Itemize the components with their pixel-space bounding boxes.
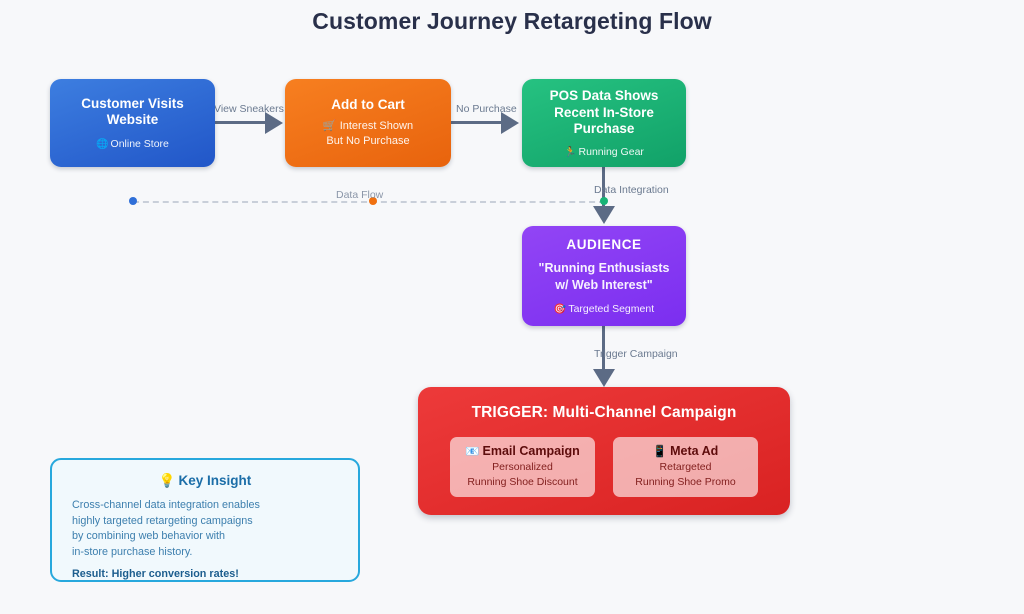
trigger-card-heading-label: Email Campaign [483, 444, 580, 458]
flow-dot-blue [129, 197, 137, 205]
runner-icon: 🏃 [564, 147, 576, 158]
flow-dot-green [600, 197, 608, 205]
node-title: Customer Visits Website [58, 96, 207, 128]
node-tag: 🏃Running Gear [564, 146, 644, 158]
globe-icon: 🌐 [96, 139, 108, 150]
trigger-card-heading: 📱Meta Ad [653, 444, 718, 458]
key-insight-heading: 💡Key Insight [72, 473, 338, 489]
node-line-2: But No Purchase [326, 134, 409, 149]
node-title-line-2: Recent In-Store [554, 105, 654, 122]
node-title-line-1: POS Data Shows [550, 88, 659, 105]
key-insight-line: by combining web behavior with [72, 529, 338, 545]
node-line-1: "Running Enthusiasts [539, 260, 670, 277]
trigger-card-line-1: Personalized [492, 460, 553, 475]
node-title-line-3: Purchase [574, 121, 635, 138]
trigger-card-line-2: Running Shoe Promo [635, 475, 735, 490]
trigger-card-email[interactable]: 📧Email Campaign Personalized Running Sho… [450, 437, 595, 497]
key-insight-panel: 💡Key Insight Cross-channel data integrat… [50, 458, 360, 582]
node-tag-label: Running Gear [579, 146, 644, 158]
node-customer-visits-website[interactable]: Customer Visits Website 🌐Online Store [50, 79, 215, 167]
edge-label-data-integration: Data Integration [594, 184, 669, 196]
node-line-2: w/ Web Interest" [555, 277, 652, 294]
connector-website-to-cart [215, 121, 267, 124]
arrowhead-pos-to-audience [593, 206, 615, 224]
edge-label-trigger-campaign: Trigger Campaign [594, 348, 678, 360]
node-pos-data[interactable]: POS Data Shows Recent In-Store Purchase … [522, 79, 686, 167]
email-icon: 📧 [465, 446, 479, 458]
shopping-cart-icon: 🛒 [323, 120, 337, 132]
target-icon: 🎯 [554, 304, 566, 315]
key-insight-line: in-store purchase history. [72, 545, 338, 561]
trigger-card-line-1: Retargeted [660, 460, 712, 475]
node-line-1-label: Interest Shown [340, 120, 413, 132]
node-heading: AUDIENCE [566, 237, 641, 253]
node-add-to-cart[interactable]: Add to Cart 🛒 Interest Shown But No Purc… [285, 79, 451, 167]
arrowhead-website-to-cart [265, 112, 283, 134]
trigger-card-heading: 📧Email Campaign [465, 444, 580, 458]
mobile-phone-icon: 📱 [653, 446, 667, 458]
page-title: Customer Journey Retargeting Flow [0, 8, 1024, 35]
edge-label-no-purchase: No Purchase [456, 103, 517, 115]
key-insight-result: Result: Higher conversion rates! [72, 568, 338, 580]
node-tag-label: Targeted Segment [568, 303, 654, 315]
key-insight-line: highly targeted retargeting campaigns [72, 514, 338, 530]
node-audience[interactable]: AUDIENCE "Running Enthusiasts w/ Web Int… [522, 226, 686, 326]
arrowhead-cart-to-pos [501, 112, 519, 134]
key-insight-heading-label: Key Insight [179, 473, 252, 488]
lightbulb-icon: 💡 [159, 473, 176, 488]
trigger-title: TRIGGER: Multi-Channel Campaign [472, 404, 737, 422]
trigger-card-line-2: Running Shoe Discount [467, 475, 577, 490]
node-tag: 🎯Targeted Segment [554, 303, 654, 315]
node-title: Add to Cart [331, 97, 405, 113]
edge-label-view-sneakers: View Sneakers [214, 103, 284, 115]
trigger-card-list: 📧Email Campaign Personalized Running Sho… [450, 437, 758, 497]
node-tag: 🌐Online Store [96, 138, 169, 150]
arrowhead-audience-to-trigger [593, 369, 615, 387]
key-insight-line: Cross-channel data integration enables [72, 498, 338, 514]
node-tag-label: Online Store [111, 138, 169, 150]
node-trigger-campaign[interactable]: TRIGGER: Multi-Channel Campaign 📧Email C… [418, 387, 790, 515]
node-line-1: 🛒 Interest Shown [323, 119, 413, 134]
diagram-canvas: Customer Journey Retargeting Flow Data F… [0, 0, 1024, 614]
trigger-card-heading-label: Meta Ad [670, 444, 718, 458]
connector-cart-to-pos [451, 121, 503, 124]
trigger-card-meta-ad[interactable]: 📱Meta Ad Retargeted Running Shoe Promo [613, 437, 758, 497]
edge-label-data-flow: Data Flow [336, 189, 383, 201]
